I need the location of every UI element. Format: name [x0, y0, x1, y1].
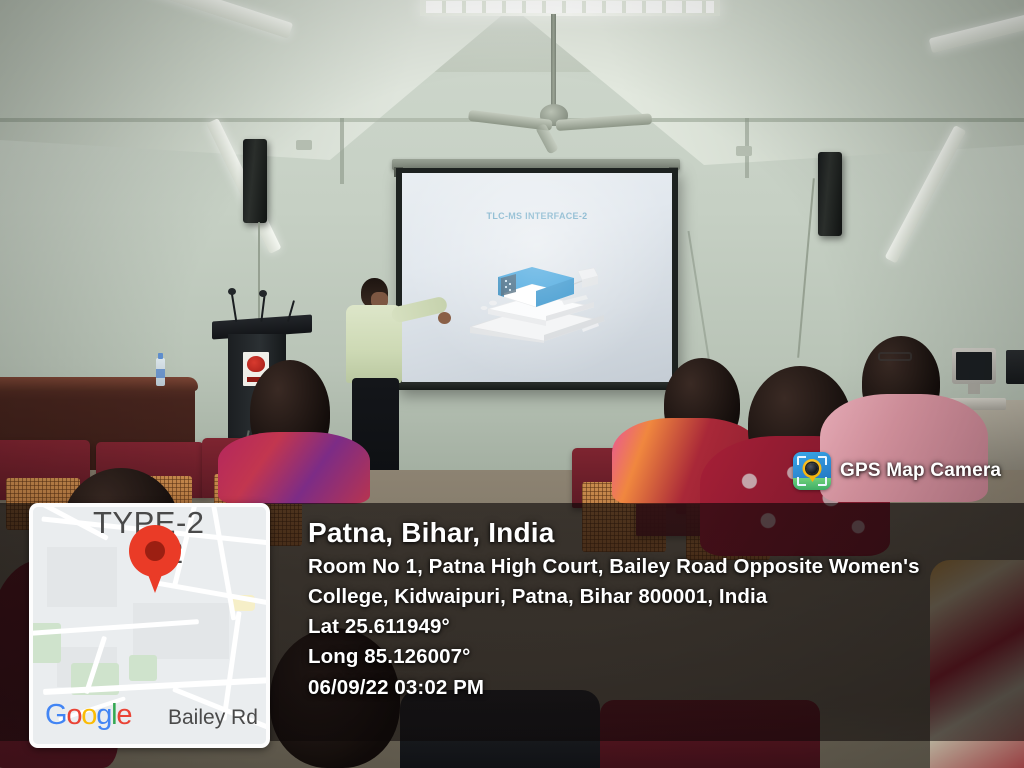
location-info-block: Patna, Bihar, India Room No 1, Patna Hig…	[308, 516, 1008, 703]
microphone-head-1	[228, 288, 236, 295]
projector-screen-surface: TLC-MS INTERFACE-2	[402, 173, 672, 383]
google-logo-letter-e: e	[116, 699, 131, 731]
location-title: Patna, Bihar, India	[308, 516, 1008, 549]
location-latitude: Lat 25.611949°	[308, 612, 1008, 642]
map-park-3	[129, 655, 157, 681]
ceiling-beam-left	[340, 118, 344, 184]
ceiling-fan-rod	[551, 14, 556, 106]
gps-map-camera-label: GPS Map Camera	[840, 460, 1001, 482]
slide-instrument-illustration	[462, 251, 612, 343]
map-location-pin	[129, 525, 181, 577]
camera-lens-icon	[807, 463, 818, 474]
wall-speaker-left	[243, 139, 267, 223]
google-logo-letter-o1: o	[66, 699, 81, 731]
projector-screen-bottom-bar	[398, 382, 676, 390]
map-thumbnail-card[interactable]: TYPE-2 2 Google Bailey Rd	[29, 503, 270, 748]
photo-canvas: TLC-MS INTERFACE-2	[0, 0, 1024, 768]
computer-monitor-secondary	[1006, 350, 1024, 384]
audience-body-1	[218, 432, 370, 504]
google-logo: Google	[45, 699, 131, 732]
monitor-stand	[968, 384, 980, 394]
location-address-line-1: Room No 1, Patna High Court, Bailey Road…	[308, 552, 1008, 582]
bottle-label	[156, 369, 165, 378]
location-address-line-2: College, Kidwaipuri, Patna, Bihar 800001…	[308, 582, 1008, 612]
light-endcap-left	[296, 140, 312, 150]
icon-bracket-bottom-left	[797, 477, 806, 486]
map-block-1	[47, 547, 117, 607]
location-timestamp: 06/09/22 03:02 PM	[308, 673, 1008, 703]
map-pin-center-dot	[145, 541, 165, 561]
presenter-hand	[438, 312, 451, 324]
location-longitude: Long 85.126007°	[308, 642, 1008, 672]
dais-desk-top	[0, 377, 198, 391]
google-logo-letter-g2: g	[96, 699, 111, 731]
audience-eyeglasses	[878, 352, 912, 361]
ceiling-light-center	[420, 0, 720, 16]
microphone-head-2	[259, 290, 267, 297]
map-road-label: Bailey Rd	[168, 706, 258, 730]
icon-bracket-bottom-right	[818, 477, 827, 486]
light-endcap-right	[736, 146, 752, 156]
computer-monitor	[952, 348, 996, 384]
slide-title: TLC-MS INTERFACE-2	[402, 211, 672, 221]
projector-screen: TLC-MS INTERFACE-2	[396, 168, 678, 390]
google-logo-letter-o2: o	[81, 699, 96, 731]
gps-map-camera-icon	[793, 452, 831, 490]
water-bottle	[156, 358, 165, 386]
google-logo-letter-g: G	[45, 699, 66, 731]
gps-map-camera-watermark: GPS Map Camera	[793, 452, 1001, 490]
monitor-screen	[956, 352, 992, 380]
map-block-2	[133, 603, 229, 659]
wall-speaker-right	[818, 152, 842, 236]
